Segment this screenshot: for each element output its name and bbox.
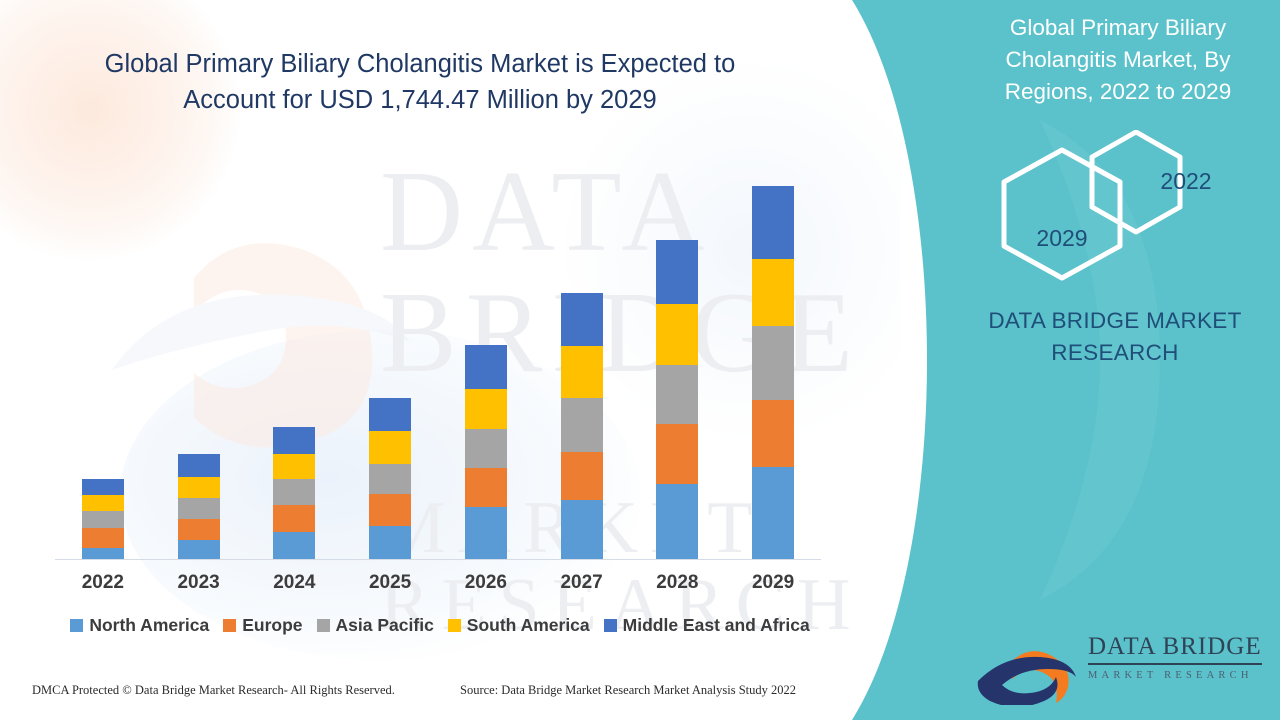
legend-swatch-icon [223, 619, 236, 632]
bar-segment [561, 346, 603, 399]
bar-segment [82, 479, 124, 495]
x-tick-2027: 2027 [534, 572, 630, 594]
stacked-bar[interactable] [465, 345, 507, 559]
bar-segment [178, 477, 220, 498]
hexagon-label-2022: 2022 [1036, 168, 1280, 195]
sidebar-brand-line-2: RESEARCH [960, 337, 1270, 369]
stacked-bar[interactable] [82, 479, 124, 559]
bar-segment [178, 454, 220, 477]
stacked-bar[interactable] [561, 293, 603, 559]
bar-segment [561, 293, 603, 346]
bar-segment [752, 259, 794, 326]
bar-segment [178, 540, 220, 559]
bar-slot-2027 [534, 150, 630, 559]
bar-segment [656, 240, 698, 304]
stacked-bar[interactable] [369, 398, 411, 559]
bar-slot-2028 [630, 150, 726, 559]
legend-label: Middle East and Africa [623, 615, 810, 636]
legend-label: South America [467, 615, 590, 636]
bar-segment [273, 454, 315, 479]
stacked-bar[interactable] [656, 240, 698, 559]
bar-segment [273, 479, 315, 505]
page-title: Global Primary Biliary Cholangitis Marke… [60, 46, 780, 118]
bar-segment [369, 526, 411, 559]
x-axis-labels: 20222023202420252026202720282029 [55, 572, 821, 594]
bar-segment [561, 452, 603, 500]
chart-legend: North AmericaEuropeAsia PacificSouth Ame… [55, 615, 825, 636]
hexagon-outlines-icon [970, 130, 1270, 290]
bar-segment [752, 326, 794, 401]
legend-swatch-icon [604, 619, 617, 632]
legend-swatch-icon [317, 619, 330, 632]
sidebar-brand-line-1: DATA BRIDGE MARKET [960, 305, 1270, 337]
x-tick-2024: 2024 [247, 572, 343, 594]
bar-segment [465, 468, 507, 507]
footer: DMCA Protected © Data Bridge Market Rese… [0, 683, 900, 713]
bar-segment [465, 507, 507, 559]
legend-item[interactable]: South America [448, 615, 590, 636]
legend-label: North America [89, 615, 209, 636]
legend-item[interactable]: Asia Pacific [317, 615, 434, 636]
bar-segment [178, 498, 220, 519]
legend-item[interactable]: Middle East and Africa [604, 615, 810, 636]
bar-segment [465, 345, 507, 390]
bar-segment [561, 500, 603, 559]
bar-slot-2022 [55, 150, 151, 559]
stacked-bar[interactable] [752, 186, 794, 559]
legend-swatch-icon [70, 619, 83, 632]
data-bridge-logo-icon [970, 625, 1080, 705]
bar-segment [656, 365, 698, 425]
source-text: Source: Data Bridge Market Research Mark… [460, 683, 796, 698]
plot-area [55, 150, 825, 560]
legend-swatch-icon [448, 619, 461, 632]
copyright-text: DMCA Protected © Data Bridge Market Rese… [32, 683, 395, 698]
company-logo: DATA BRIDGE MARKET RESEARCH [970, 625, 1260, 705]
stacked-bar[interactable] [178, 454, 220, 559]
bar-segment [752, 467, 794, 559]
bar-segment [752, 400, 794, 467]
bar-slot-2023 [151, 150, 247, 559]
bar-segment [656, 304, 698, 365]
x-tick-2028: 2028 [630, 572, 726, 594]
bar-segment [656, 424, 698, 484]
bar-group [55, 150, 821, 559]
sidebar-content: Global Primary Biliary Cholangitis Marke… [950, 0, 1280, 720]
x-tick-2026: 2026 [438, 572, 534, 594]
logo-subtitle: MARKET RESEARCH [1088, 670, 1268, 681]
bar-segment [273, 505, 315, 532]
infographic-canvas: DATA BRIDGE MARKET RESEARCH Global Prima… [0, 0, 1280, 720]
chart-panel: DATA BRIDGE MARKET RESEARCH Global Prima… [0, 0, 900, 720]
legend-item[interactable]: Europe [223, 615, 302, 636]
bar-slot-2026 [438, 150, 534, 559]
axis-baseline [55, 559, 821, 560]
sidebar-title: Global Primary Biliary Cholangitis Marke… [968, 12, 1268, 108]
sidebar-brand: DATA BRIDGE MARKET RESEARCH [960, 305, 1270, 369]
x-tick-2022: 2022 [55, 572, 151, 594]
legend-label: Europe [242, 615, 302, 636]
bar-segment [656, 484, 698, 559]
bar-segment [465, 389, 507, 429]
bar-segment [82, 548, 124, 559]
bar-segment [561, 398, 603, 452]
stacked-bar[interactable] [273, 427, 315, 559]
bar-segment [273, 427, 315, 454]
bar-segment [369, 431, 411, 464]
bar-segment [82, 528, 124, 548]
legend-item[interactable]: North America [70, 615, 209, 636]
bar-segment [82, 511, 124, 528]
bar-slot-2025 [342, 150, 438, 559]
legend-label: Asia Pacific [336, 615, 434, 636]
logo-title: DATA BRIDGE [1088, 633, 1262, 665]
bar-segment [273, 532, 315, 559]
hexagon-label-2029: 2029 [912, 225, 1212, 252]
bar-segment [369, 398, 411, 431]
x-tick-2029: 2029 [725, 572, 821, 594]
hexagon-group: 2029 2022 [970, 130, 1270, 290]
logo-wordmark: DATA BRIDGE MARKET RESEARCH [1088, 633, 1268, 681]
bar-segment [369, 464, 411, 494]
x-tick-2023: 2023 [151, 572, 247, 594]
bar-segment [178, 519, 220, 540]
bar-segment [465, 429, 507, 468]
bar-slot-2029 [725, 150, 821, 559]
bar-segment [752, 186, 794, 259]
bar-segment [369, 494, 411, 526]
bar-segment [82, 495, 124, 511]
x-tick-2025: 2025 [342, 572, 438, 594]
bar-slot-2024 [247, 150, 343, 559]
